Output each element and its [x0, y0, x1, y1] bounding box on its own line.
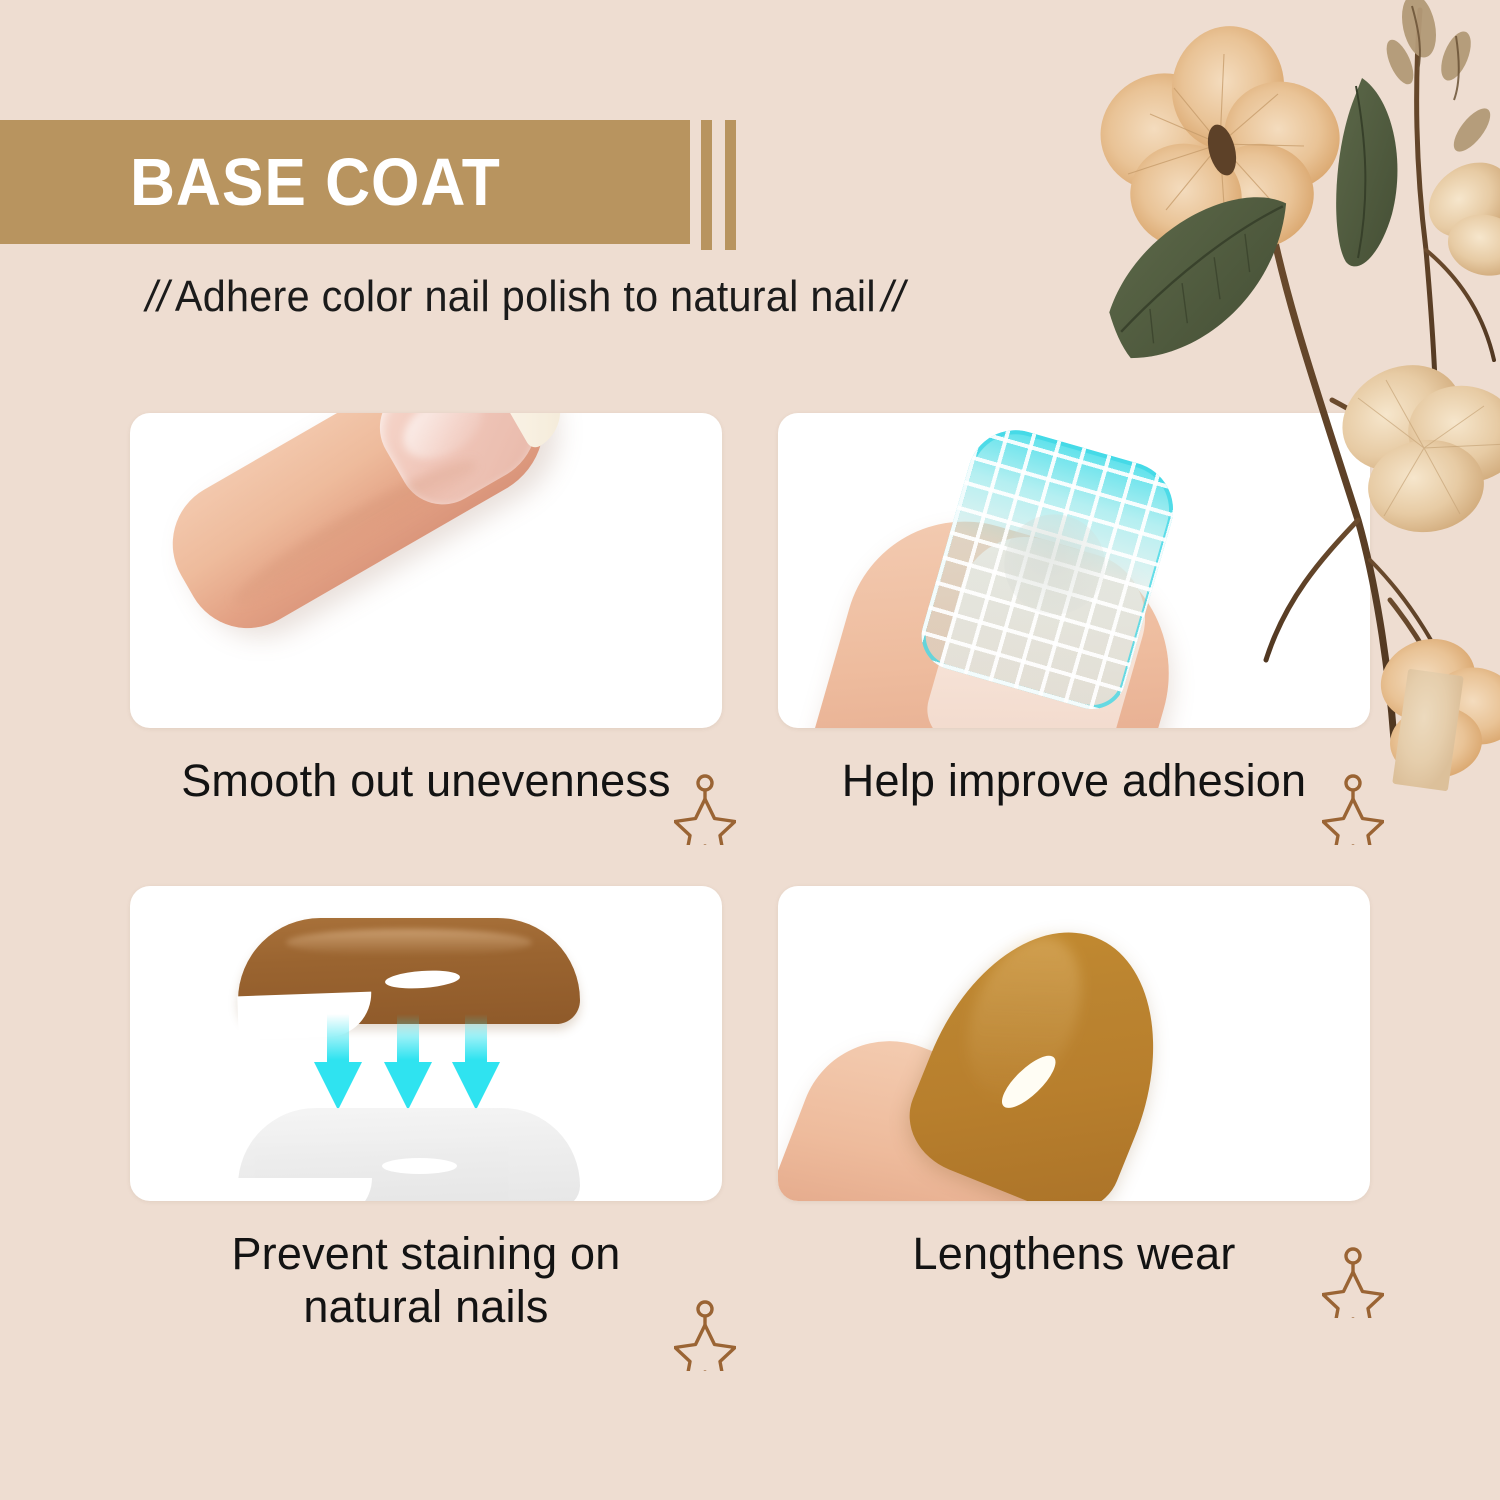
natural-nail-plate	[364, 413, 560, 521]
feature-caption-2: Help improve adhesion	[778, 754, 1370, 807]
header-band: BASE COAT	[0, 120, 690, 244]
finger-shape	[150, 413, 571, 651]
infographic-page: BASE COAT //Adhere color nail polish to …	[0, 0, 1500, 1500]
subtitle-close-mark: //	[876, 272, 911, 322]
caramel-polished-almond-nail-photo	[778, 886, 1370, 1201]
feature-card-4[interactable]	[778, 886, 1370, 1201]
double-vertical-rule-icon-second	[725, 120, 736, 250]
feature-caption-1: Smooth out unevenness	[130, 754, 722, 807]
page-title: BASE COAT	[130, 144, 501, 221]
subtitle: //Adhere color nail polish to natural na…	[140, 272, 911, 322]
caption-line: Smooth out unevenness	[130, 754, 722, 807]
down-arrow-icon	[452, 1014, 500, 1110]
caption-line: Lengthens wear	[778, 1227, 1370, 1280]
clear-layer-notch	[238, 1178, 372, 1201]
feature-card-3[interactable]	[130, 886, 722, 1201]
down-arrow-icon	[384, 1014, 432, 1110]
subtitle-open-mark: //	[140, 272, 175, 322]
polish-layer-over-clear-nail-diagram	[130, 886, 722, 1201]
feature-caption-3: Prevent staining on natural nails	[130, 1227, 722, 1333]
bare-natural-nail-photo	[130, 413, 722, 728]
down-arrow-icon	[314, 1014, 362, 1110]
feature-card-2[interactable]	[778, 413, 1370, 728]
feature-card-1[interactable]	[130, 413, 722, 728]
caption-line: Help improve adhesion	[778, 754, 1370, 807]
caramel-polished-nail	[893, 897, 1198, 1201]
feature-caption-4: Lengthens wear	[778, 1227, 1370, 1280]
caption-line: Prevent staining on	[130, 1227, 722, 1280]
tan-fabric-ribbon-decoration	[1392, 669, 1464, 792]
feature-cell-4: Lengthens wear	[778, 886, 1370, 1280]
feature-cell-3: Prevent staining on natural nails	[130, 886, 722, 1333]
subtitle-text: Adhere color nail polish to natural nail	[175, 272, 876, 321]
nail-with-cyan-adhesion-grid-photo	[778, 413, 1370, 728]
double-vertical-rule-icon	[701, 120, 712, 250]
caption-line: natural nails	[130, 1280, 722, 1333]
feature-cell-2: Help improve adhesion	[778, 413, 1370, 807]
feature-cell-1: Smooth out unevenness	[130, 413, 722, 807]
